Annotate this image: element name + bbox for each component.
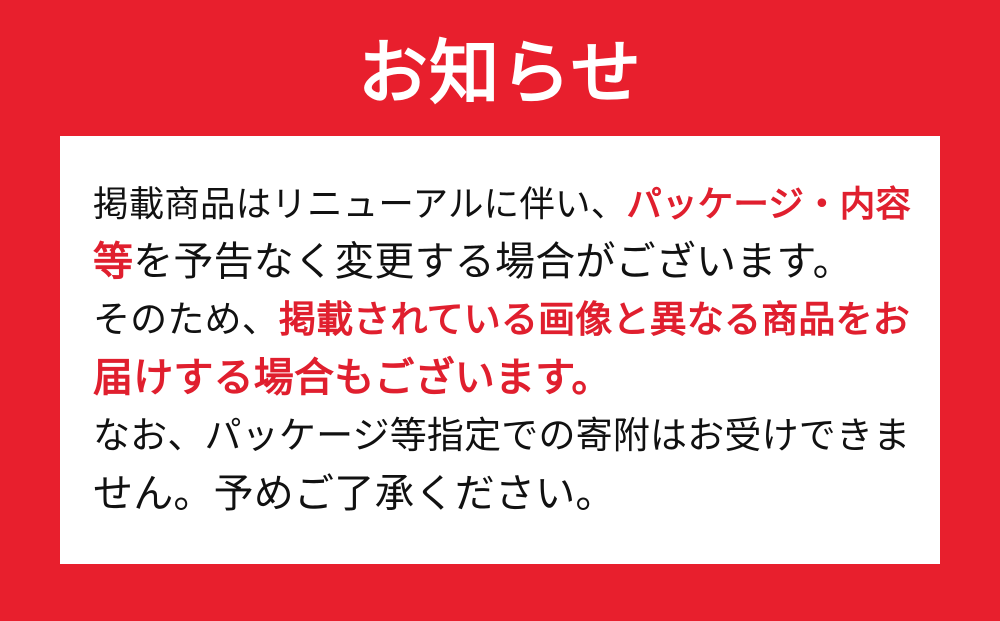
notice-text-plain: を予告なく変更する場合がございます。 xyxy=(133,240,853,284)
notice-line: 等を予告なく変更する場合がございます。 xyxy=(93,233,913,291)
notice-text-plain: 掲載商品はリニューアルに伴い、 xyxy=(93,184,626,224)
notice-card: 掲載商品はリニューアルに伴い、パッケージ・内容等を予告なく変更する場合がございま… xyxy=(60,136,940,564)
notice-line: なお、パッケージ等指定での寄附はお受けできま xyxy=(93,407,913,465)
page-title: お知らせ xyxy=(0,31,1000,115)
notice-line: 掲載商品はリニューアルに伴い、パッケージ・内容 xyxy=(93,175,913,233)
notice-text-plain: そのため、 xyxy=(93,299,279,340)
notice-text-plain: せん。予めご了承ください。 xyxy=(93,472,616,516)
notice-text-emphasis: 届けする場合もございます。 xyxy=(93,356,612,400)
notice-text-plain: なお、パッケージ等指定での寄附はお受けできま xyxy=(93,415,910,456)
notice-line: そのため、掲載されている画像と異なる商品をお xyxy=(93,291,913,349)
notice-text-block: 掲載商品はリニューアルに伴い、パッケージ・内容等を予告なく変更する場合がございま… xyxy=(93,175,913,523)
notice-text-emphasis: パッケージ・内容 xyxy=(626,184,911,224)
notice-line: 届けする場合もございます。 xyxy=(93,349,913,407)
notice-text-emphasis: 掲載されている画像と異なる商品をお xyxy=(279,299,910,340)
notice-text-emphasis: 等 xyxy=(93,240,133,284)
notice-line: せん。予めご了承ください。 xyxy=(93,465,913,523)
notice-banner: お知らせ 掲載商品はリニューアルに伴い、パッケージ・内容等を予告なく変更する場合… xyxy=(0,0,1000,621)
